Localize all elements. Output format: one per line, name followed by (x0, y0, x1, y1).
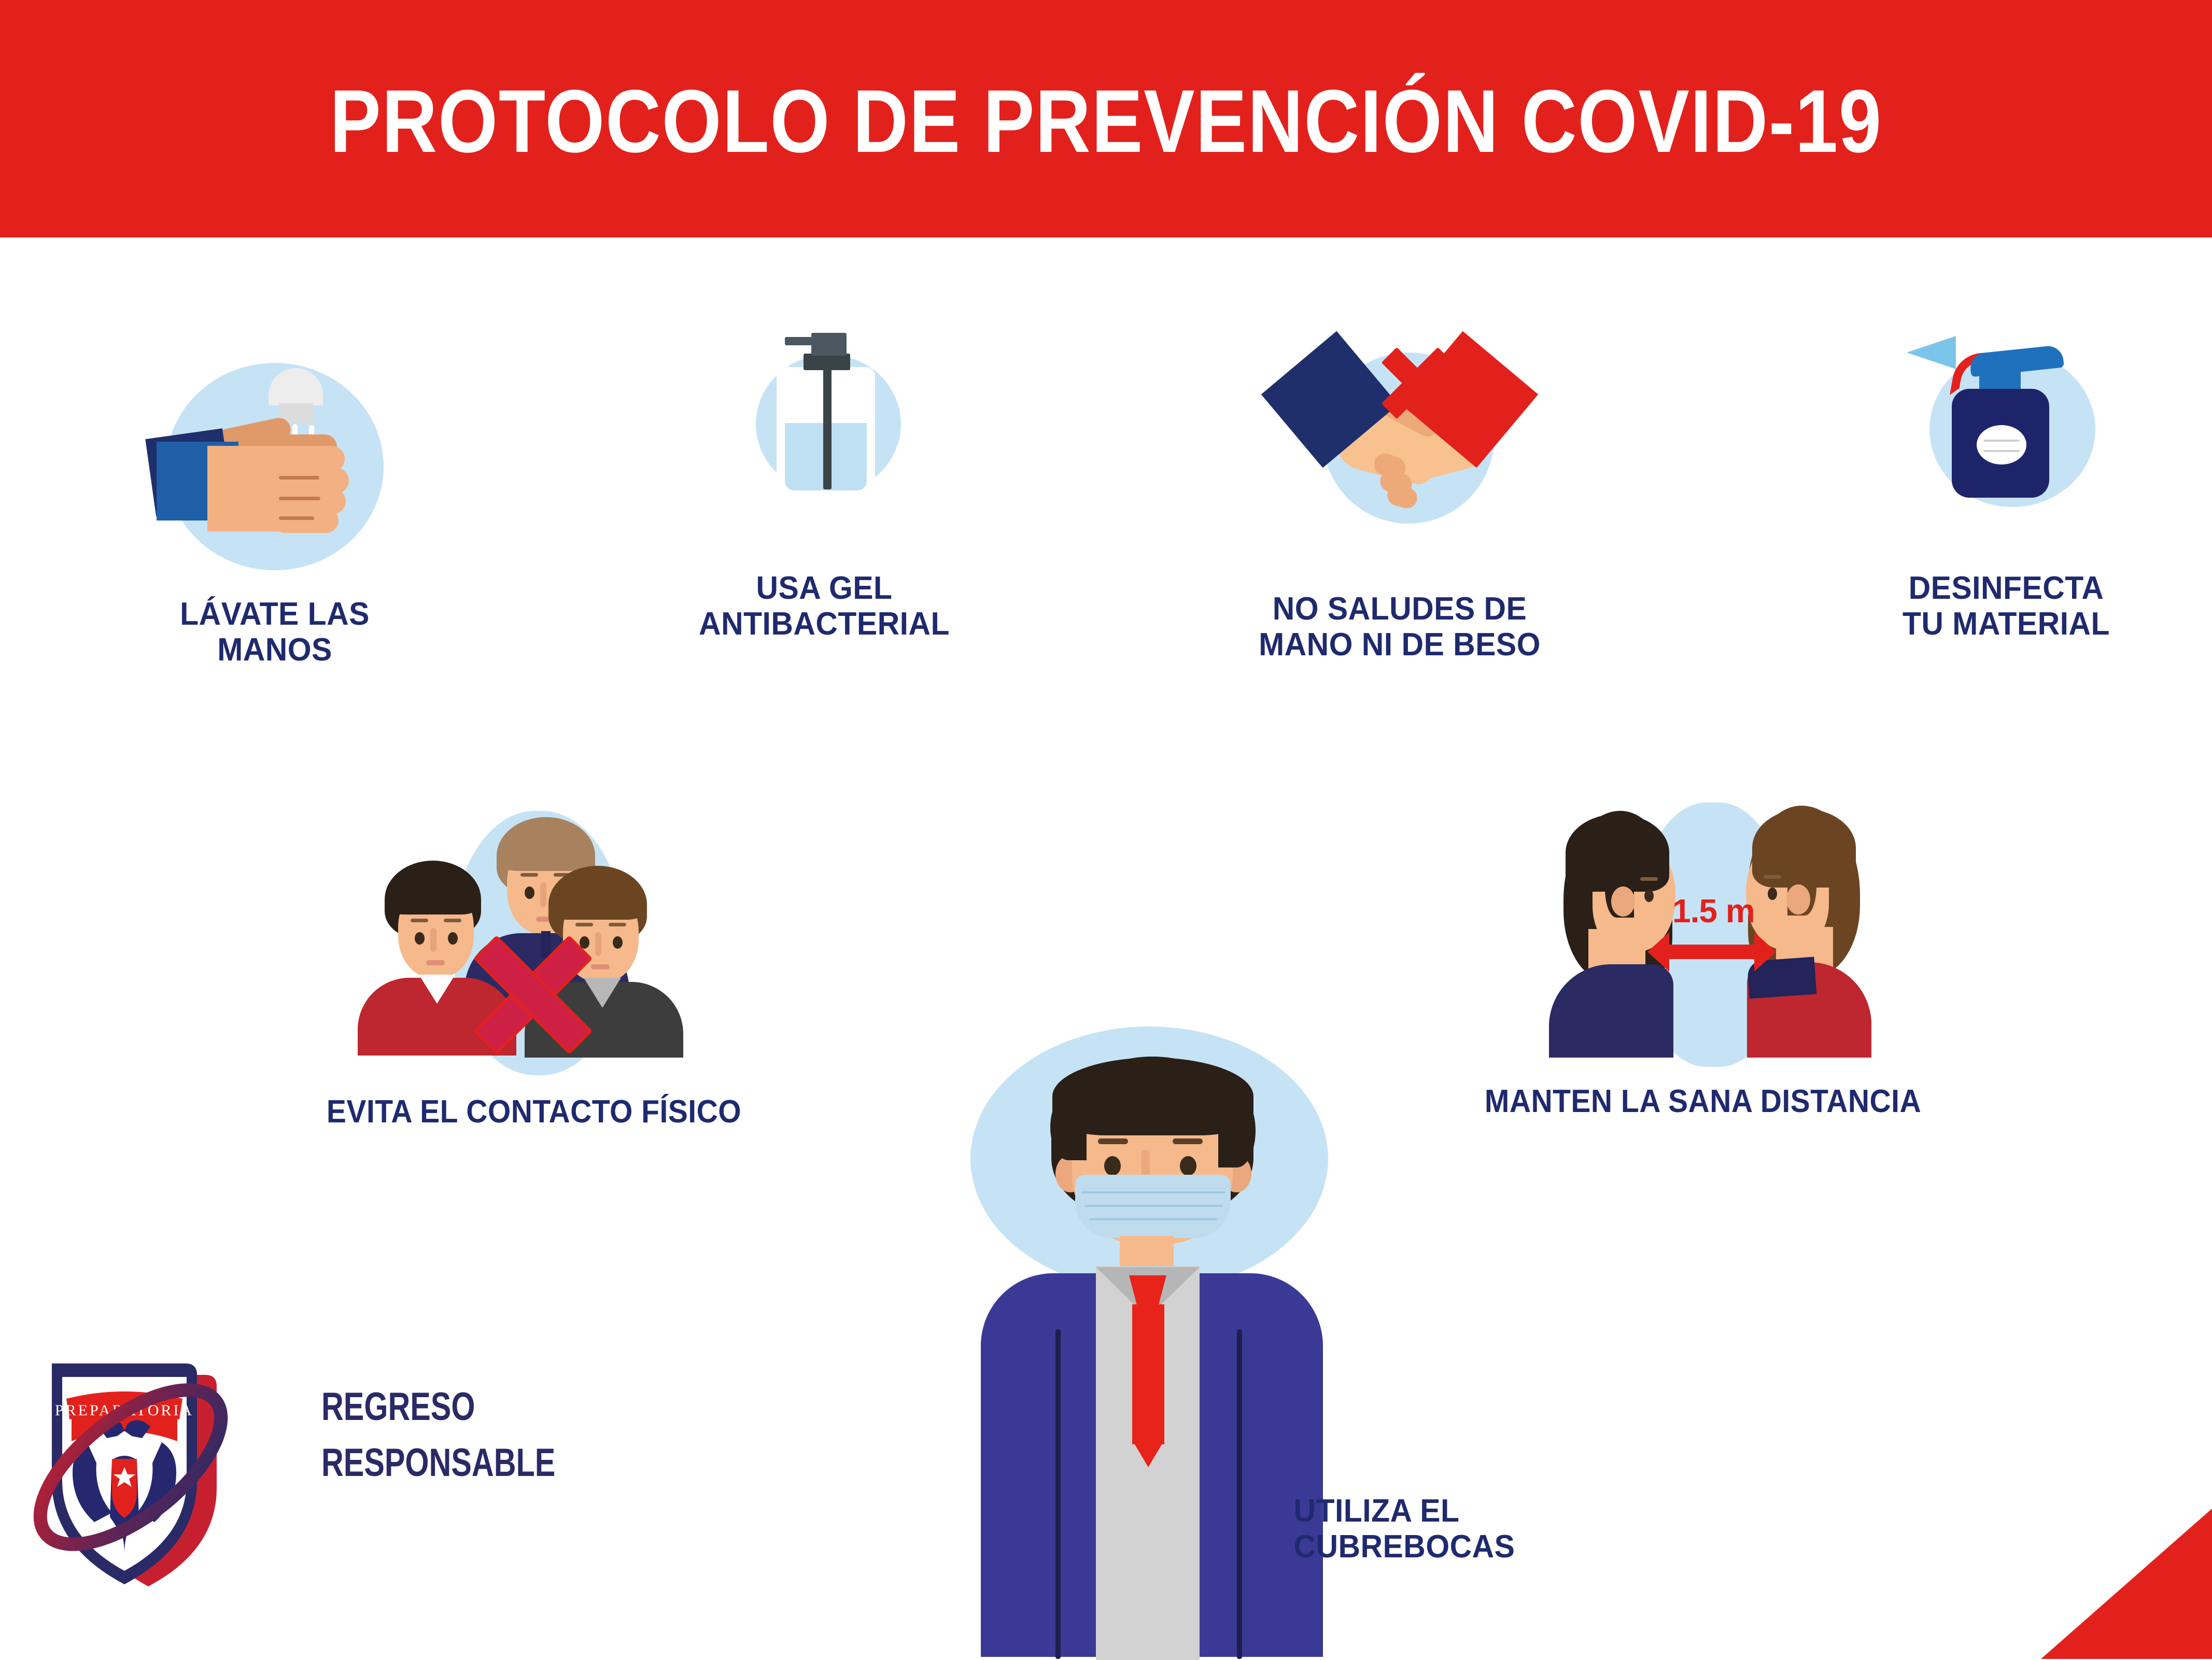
measure-card-avoid-contact: EVITA EL CONTACTO FÍSICO (275, 804, 793, 1166)
page-title: PROTOCOLO DE PREVENCIÓN COVID-19 (155, 77, 2058, 166)
logo-tagline: REGRESO RESPONSABLE (321, 1379, 685, 1491)
hand-sanitizer-pump-bottle-icon (731, 321, 928, 544)
measure-card-no-handshake: NO SALUDES DE MANO NI DE BESO (1234, 342, 1566, 705)
two-people-distance-icon: 1.5 m (1534, 793, 1887, 1068)
distance-value-label: 1.5 m (1672, 892, 1755, 930)
measure-label-use-gel: USA GEL ANTIBACTERIAL (682, 570, 967, 642)
bottom-right-red-triangle (2041, 1509, 2212, 1659)
measure-label-avoid-contact: EVITA EL CONTACTO FÍSICO (295, 1094, 772, 1130)
measure-card-keep-distance: 1.5 m MANTEN LA SANA DISTANCIA (1431, 793, 1975, 1156)
spray-bottle-icon (1903, 327, 2110, 550)
measure-card-disinfect: DESINFECTA TU MATERIAL (1856, 327, 2157, 690)
three-people-crossed-out-icon (358, 804, 715, 1078)
measure-label-disinfect: DESINFECTA TU MATERIAL (1864, 570, 2149, 642)
measure-label-face-mask: UTILIZA EL CUBREBOCAS (1294, 1493, 1599, 1565)
hand-under-faucet-icon (145, 358, 404, 581)
red-cross-icon (461, 930, 596, 1054)
red-cross-icon (1378, 344, 1456, 422)
measure-card-use-gel: USA GEL ANTIBACTERIAL (674, 321, 975, 684)
measure-label-wash-hands: LÁVATE LAS MANOS (132, 596, 418, 668)
measure-card-wash-hands: LÁVATE LAS MANOS (124, 358, 425, 679)
measure-label-no-handshake: NO SALUDES DE MANO NI DE BESO (1242, 591, 1557, 663)
preparatoria-shield-eagle-logo: PREPARATORIA (21, 1312, 311, 1623)
measure-label-keep-distance: MANTEN LA SANA DISTANCIA (1453, 1084, 1953, 1119)
handshake-crossed-out-icon (1291, 342, 1519, 565)
